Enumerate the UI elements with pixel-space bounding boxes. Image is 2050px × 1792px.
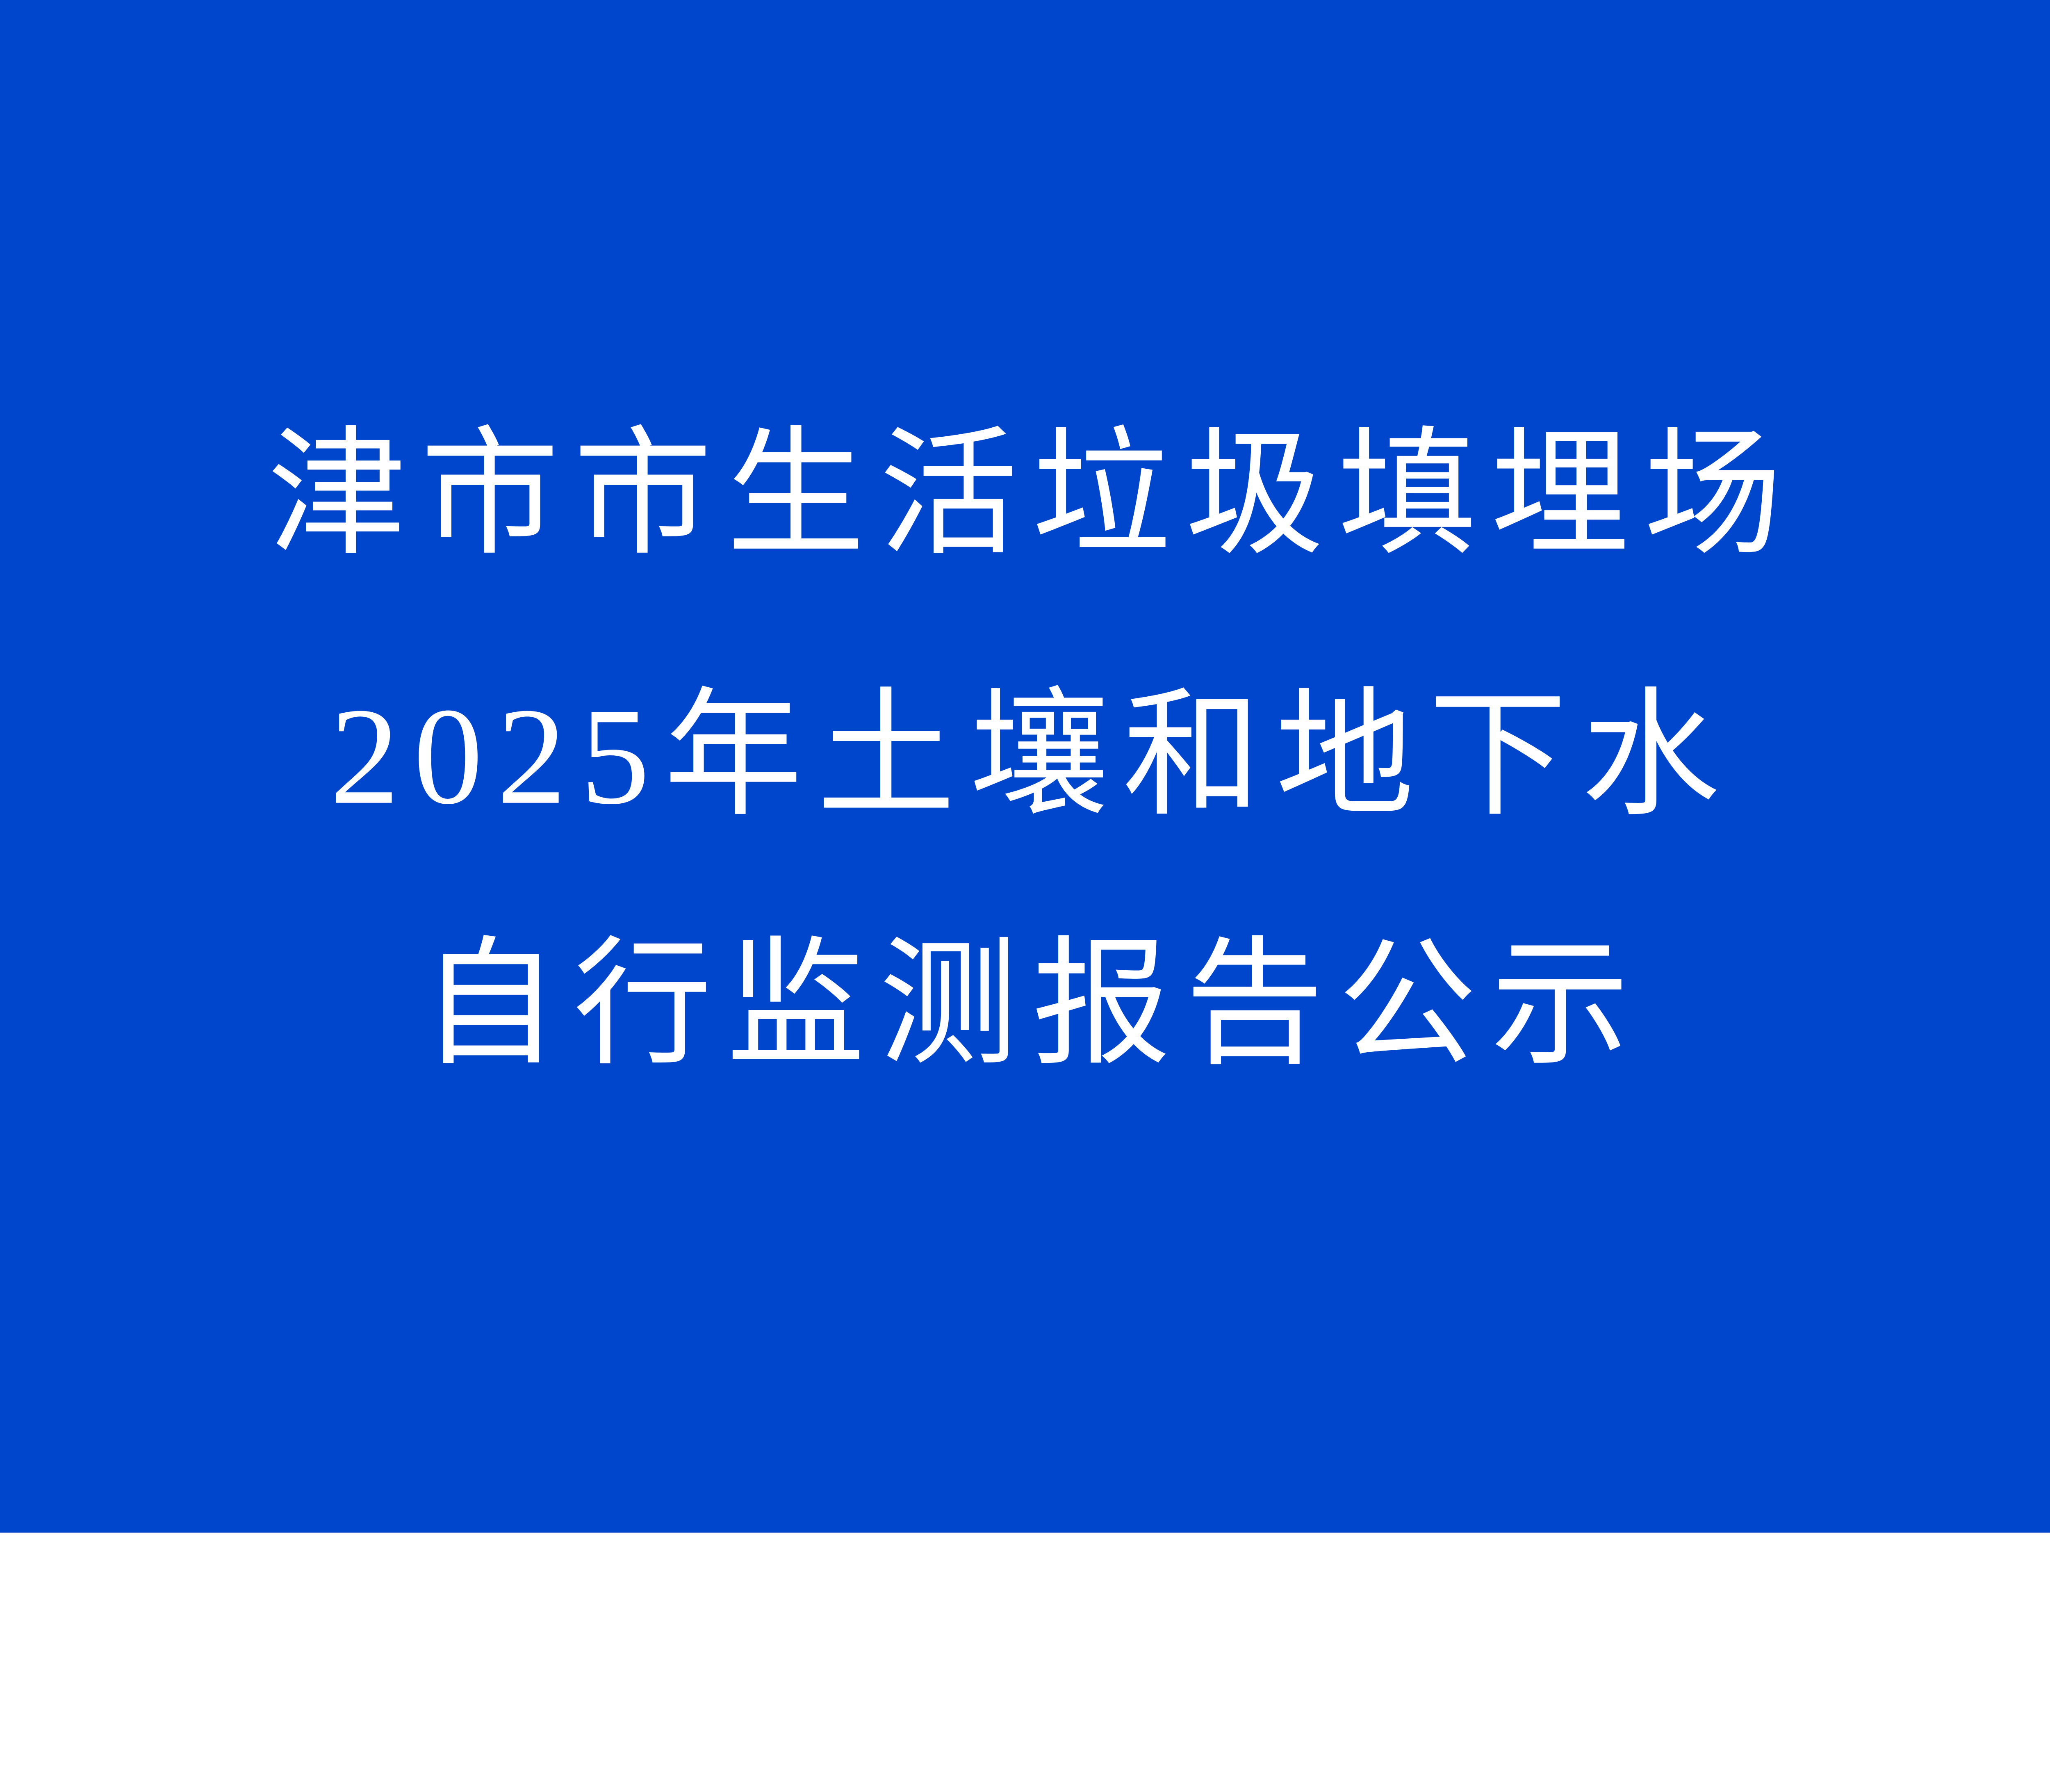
title-line-2: 2025年土壤和地下水 [316, 685, 1734, 825]
title-year-numerals: 2025 [330, 679, 664, 833]
announcement-poster: 津市市生活垃圾填埋场 2025年土壤和地下水 自行监测报告公示 [0, 0, 2050, 1533]
title-line-3: 自行监测报告公示 [406, 934, 1643, 1073]
title-block: 津市市生活垃圾填埋场 2025年土壤和地下水 自行监测报告公示 [0, 424, 2050, 1073]
title-line-2-text: 年土壤和地下水 [664, 677, 1734, 832]
banner-canvas: 津市市生活垃圾填埋场 2025年土壤和地下水 自行监测报告公示 [0, 0, 2050, 1533]
title-line-1: 津市市生活垃圾填埋场 [253, 424, 1796, 563]
